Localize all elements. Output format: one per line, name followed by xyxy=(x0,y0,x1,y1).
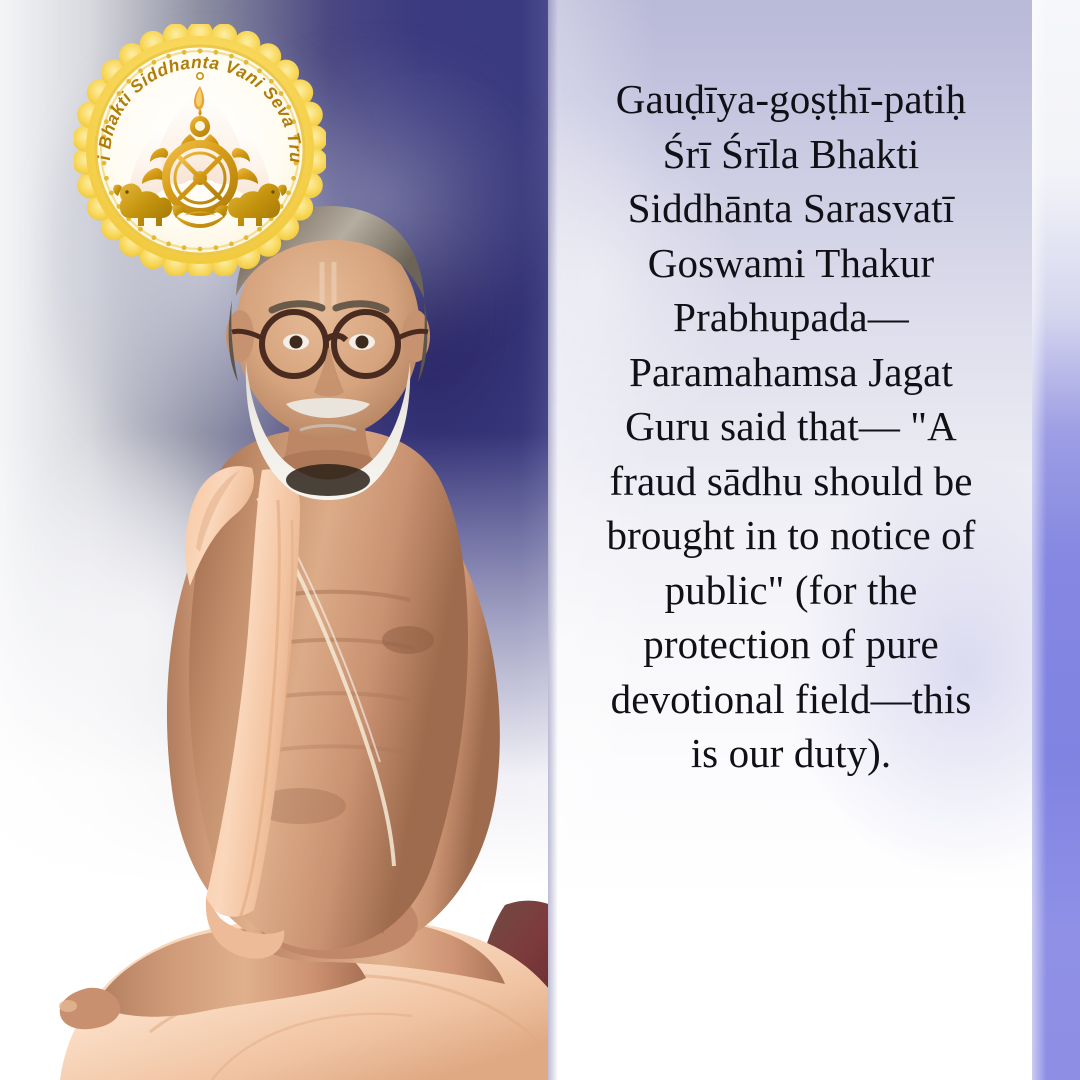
logo-curved-text: Sri Bhakti Siddhanta Vani Seva Trust xyxy=(74,24,326,276)
toe-nail xyxy=(59,1000,77,1012)
trust-logo: Sri Bhakti Siddhanta Vani Seva Trust xyxy=(74,24,326,276)
iris-left xyxy=(290,336,303,349)
poster-canvas: Sri Bhakti Siddhanta Vani Seva Trust Gau… xyxy=(0,0,1080,1080)
chest-shadow xyxy=(382,626,434,654)
right-periwinkle-strip xyxy=(1032,0,1080,1080)
iris-right xyxy=(356,336,369,349)
main-quote-text: Gauḍīya-goṣṭhī-patiḥ Śrī Śrīla Bhakti Si… xyxy=(556,72,1026,781)
logo-trust-name: Sri Bhakti Siddhanta Vani Seva Trust xyxy=(74,24,306,163)
beard-shadow-under xyxy=(286,464,370,496)
svg-text:Sri Bhakti Siddhanta Vani Seva: Sri Bhakti Siddhanta Vani Seva Trust xyxy=(74,24,306,163)
